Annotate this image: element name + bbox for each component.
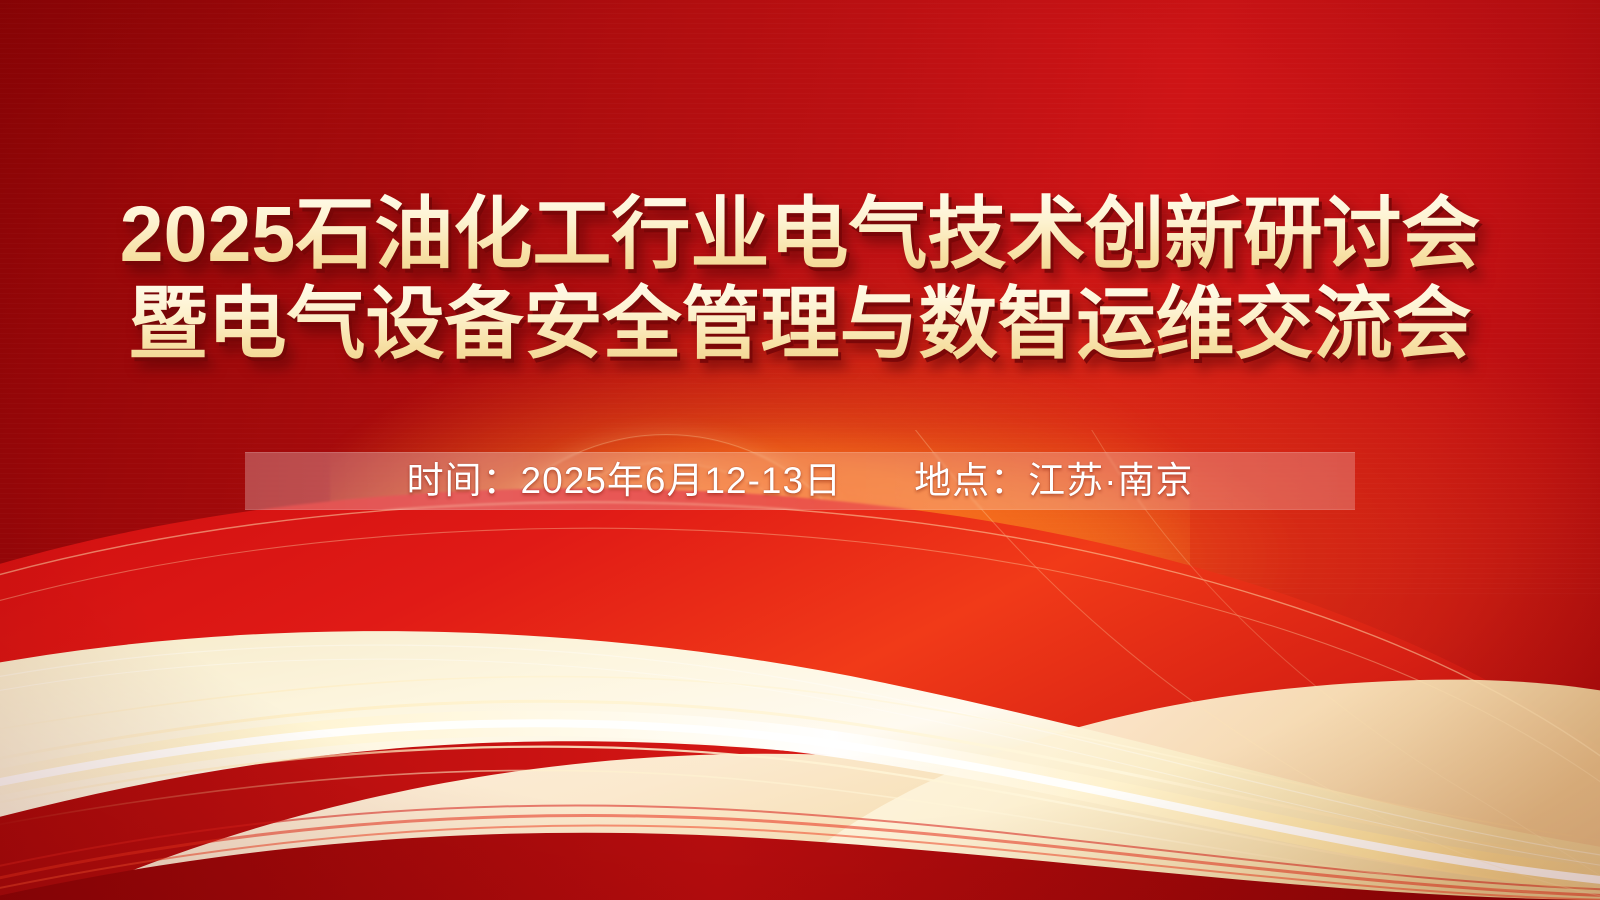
title-line-1: 2025石油化工行业电气技术创新研讨会 (0, 186, 1600, 282)
event-date: 时间：2025年6月12-13日 (407, 462, 843, 499)
event-info-bar: 时间：2025年6月12-13日 地点：江苏·南京 (245, 452, 1355, 510)
conference-banner: 2025石油化工行业电气技术创新研讨会 暨电气设备安全管理与数智运维交流会 时间… (0, 0, 1600, 900)
event-location: 地点：江苏·南京 (914, 462, 1193, 499)
banner-title: 2025石油化工行业电气技术创新研讨会 暨电气设备安全管理与数智运维交流会 (0, 186, 1600, 372)
title-line-2: 暨电气设备安全管理与数智运维交流会 (0, 276, 1600, 372)
